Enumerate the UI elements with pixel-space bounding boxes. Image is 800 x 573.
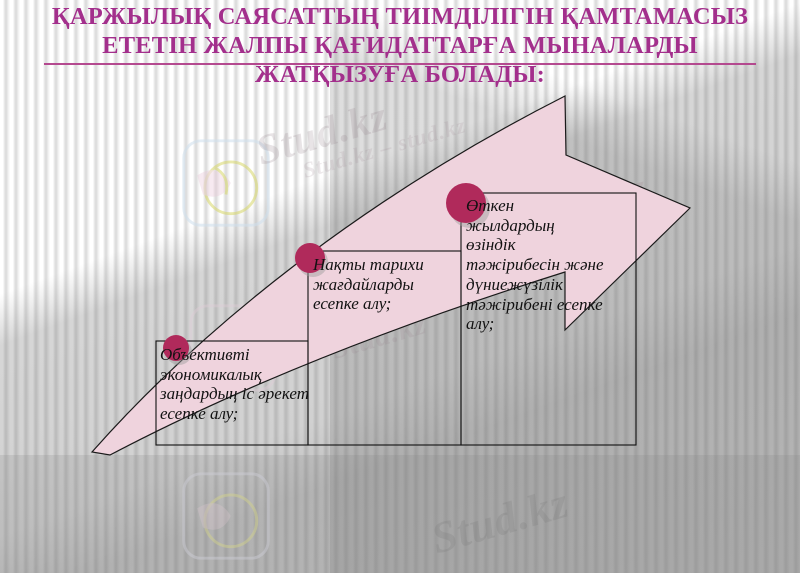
slide-canvas: Stud.kz Stud.kz – stud.kz Stud.kz Stud.k… [0,0,800,573]
step-text-3: Өткен жылдардың өзіндік тәжірибесін және… [466,196,606,334]
step-text-1: Объективті экономикалық заңдардың іс әре… [160,345,310,424]
step-text-2: Нақты тарихи жағдайларды есепке алу; [313,255,461,314]
